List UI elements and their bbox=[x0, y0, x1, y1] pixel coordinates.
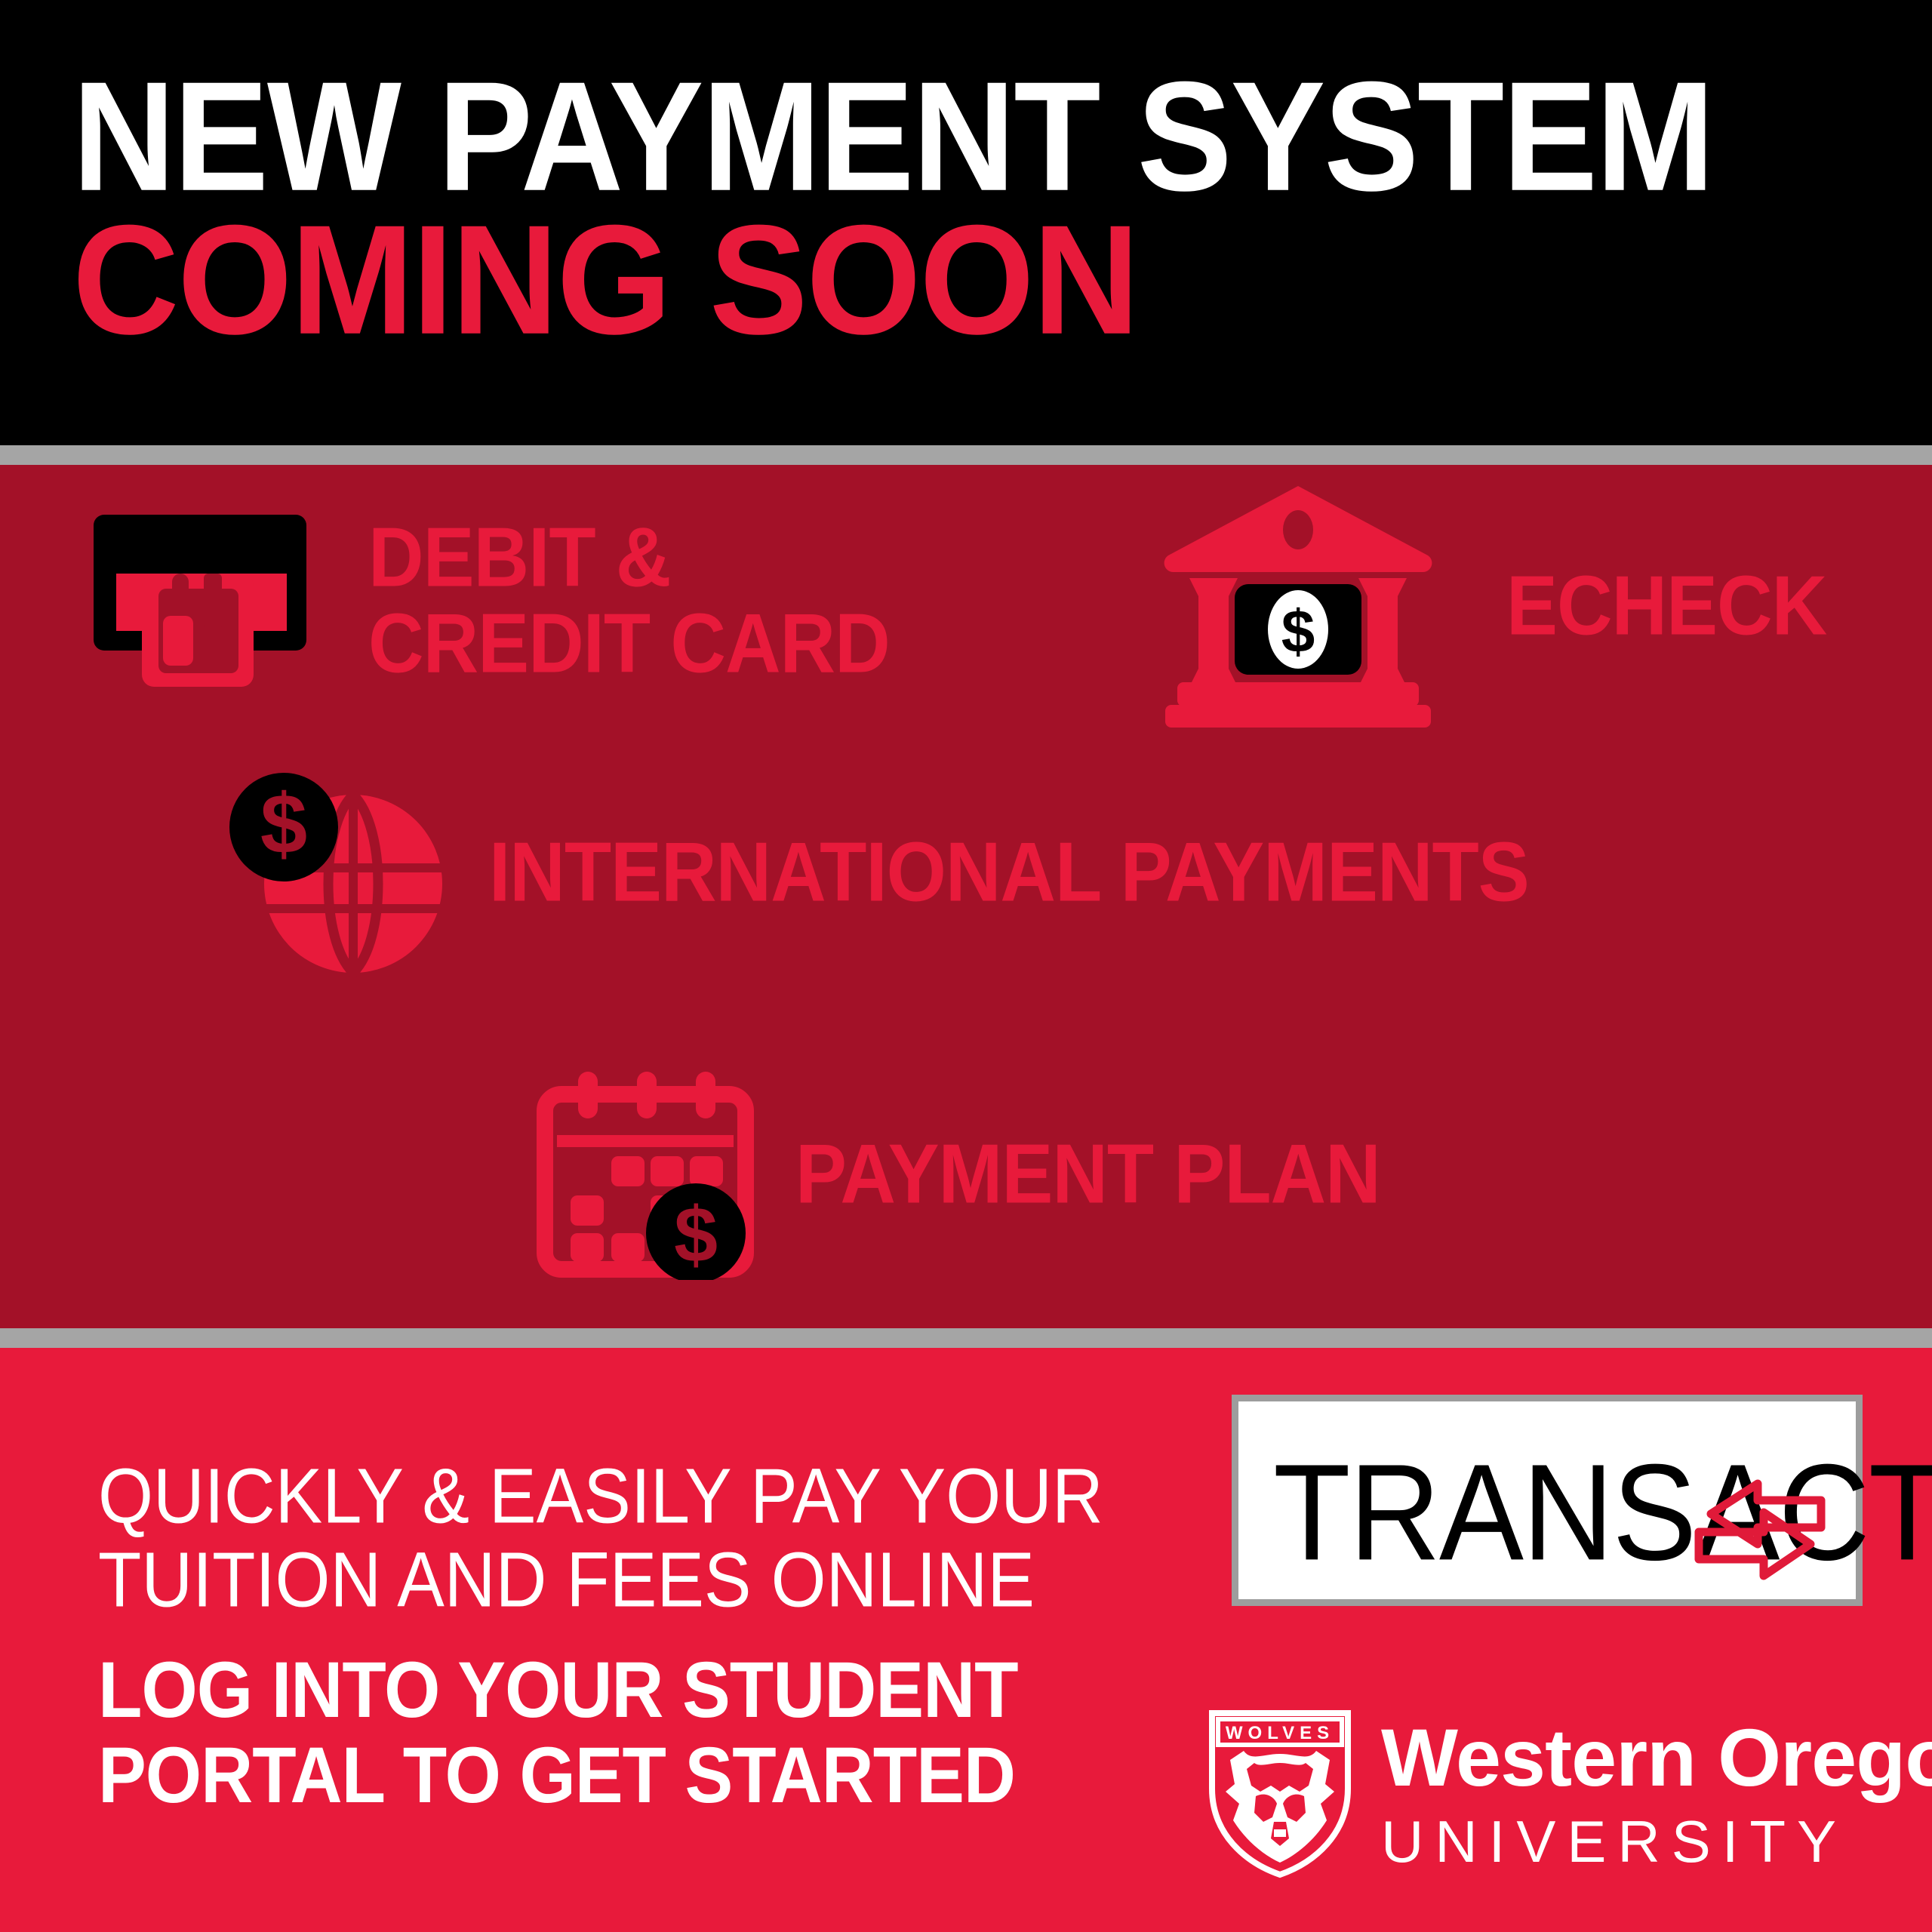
svg-text:$: $ bbox=[674, 1192, 718, 1279]
wou-subtitle: UNIVERSITY bbox=[1381, 1812, 1932, 1871]
wolf-head-shield-icon: WOLVES bbox=[1204, 1707, 1355, 1881]
headline-secondary: COMING SOON bbox=[72, 202, 1138, 358]
bank-building-dollar-icon: $ bbox=[1162, 481, 1434, 731]
method-international-payments: $ INTERNATIONAL PAYMENTS bbox=[226, 767, 1489, 978]
wolves-banner-text: WOLVES bbox=[1226, 1723, 1334, 1743]
svg-text:$: $ bbox=[1281, 598, 1315, 665]
divider-top bbox=[0, 445, 1932, 465]
cta-light-text: QUICKLY & EASILY PAY YOUR TUITION AND FE… bbox=[98, 1455, 1103, 1623]
divider-bottom bbox=[0, 1328, 1932, 1348]
wou-text-block: Western Oregon UNIVERSITY bbox=[1381, 1717, 1932, 1871]
globe-dollar-icon: $ bbox=[226, 767, 453, 978]
wou-logo-lockup: WOLVES Western Oregon UNIVERSITY bbox=[1204, 1707, 1932, 1881]
calendar-dollar-icon: $ bbox=[536, 1069, 762, 1280]
method-label-debit-credit-card: DEBIT & CREDIT CARD bbox=[368, 515, 890, 687]
method-label-echeck: ECHECK bbox=[1506, 563, 1826, 649]
headline-primary: NEW PAYMENT SYSTEM bbox=[72, 59, 1713, 214]
header-banner: NEW PAYMENT SYSTEM COMING SOON bbox=[0, 0, 1932, 445]
cta-bold-text: LOG INTO YOUR STUDENT PORTAL TO GET STAR… bbox=[98, 1648, 1018, 1820]
credit-card-insert-icon bbox=[91, 510, 325, 691]
payment-methods-section: DEBIT & CREDIT CARD $ bbox=[0, 465, 1932, 1328]
wou-name: Western Oregon bbox=[1381, 1717, 1932, 1798]
transact-logo-box: TRANSACT bbox=[1232, 1395, 1863, 1606]
method-payment-plan: $ PAYMENT PLAN bbox=[536, 1069, 1358, 1280]
transact-arrows-group bbox=[1691, 1470, 1842, 1595]
svg-text:$: $ bbox=[260, 777, 307, 871]
method-label-payment-plan: PAYMENT PLAN bbox=[795, 1131, 1380, 1217]
method-debit-credit-card: DEBIT & CREDIT CARD bbox=[91, 510, 869, 691]
poster-root: NEW PAYMENT SYSTEM COMING SOON bbox=[0, 0, 1932, 1932]
method-label-international-payments: INTERNATIONAL PAYMENTS bbox=[489, 829, 1529, 915]
method-echeck: $ ECHECK bbox=[1162, 481, 1814, 731]
